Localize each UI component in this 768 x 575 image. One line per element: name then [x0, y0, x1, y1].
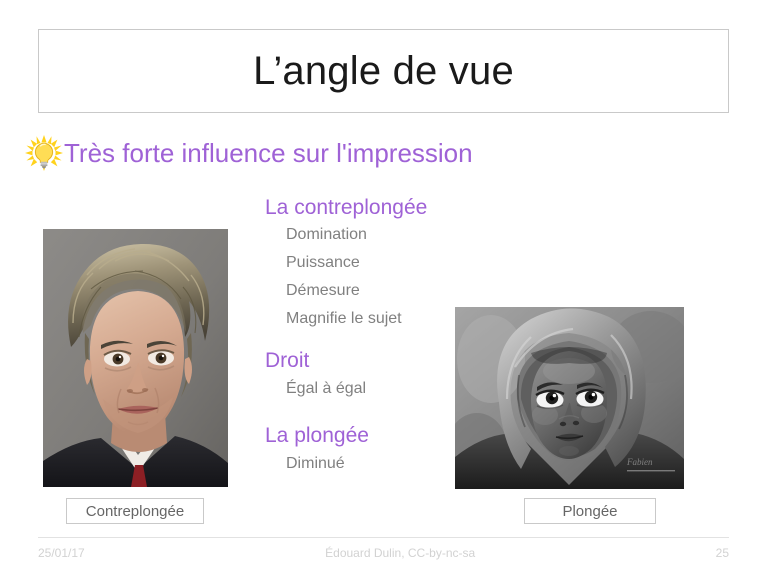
footer-page-number: 25 [716, 546, 729, 560]
caption-label: Contreplongée [86, 503, 184, 520]
page-title: L’angle de vue [253, 51, 514, 91]
section-heading: La contreplongée [265, 196, 495, 219]
caption-contreplongee: Contreplongée [66, 498, 204, 524]
list-item: Démesure [286, 283, 495, 299]
headline-text: Très forte influence sur l'impression [64, 140, 473, 166]
low-angle-portrait-photo [43, 229, 228, 487]
headline-row: Très forte influence sur l'impression [24, 134, 473, 172]
footer-date: 25/01/17 [38, 546, 85, 560]
caption-plongee: Plongée [524, 498, 656, 524]
high-angle-child-photo: Fabien [455, 307, 684, 489]
footer-attribution: Édouard Dulin, CC-by-nc-sa [85, 546, 716, 560]
slide-title-box: L’angle de vue [38, 29, 729, 113]
caption-label: Plongée [562, 503, 617, 520]
slide-footer: 25/01/17 Édouard Dulin, CC-by-nc-sa 25 [38, 544, 729, 562]
footer-divider [38, 537, 729, 538]
list-item: Puissance [286, 255, 495, 271]
light-bulb-icon [24, 134, 64, 172]
list-item: Domination [286, 227, 495, 243]
svg-text:Fabien: Fabien [626, 457, 653, 467]
